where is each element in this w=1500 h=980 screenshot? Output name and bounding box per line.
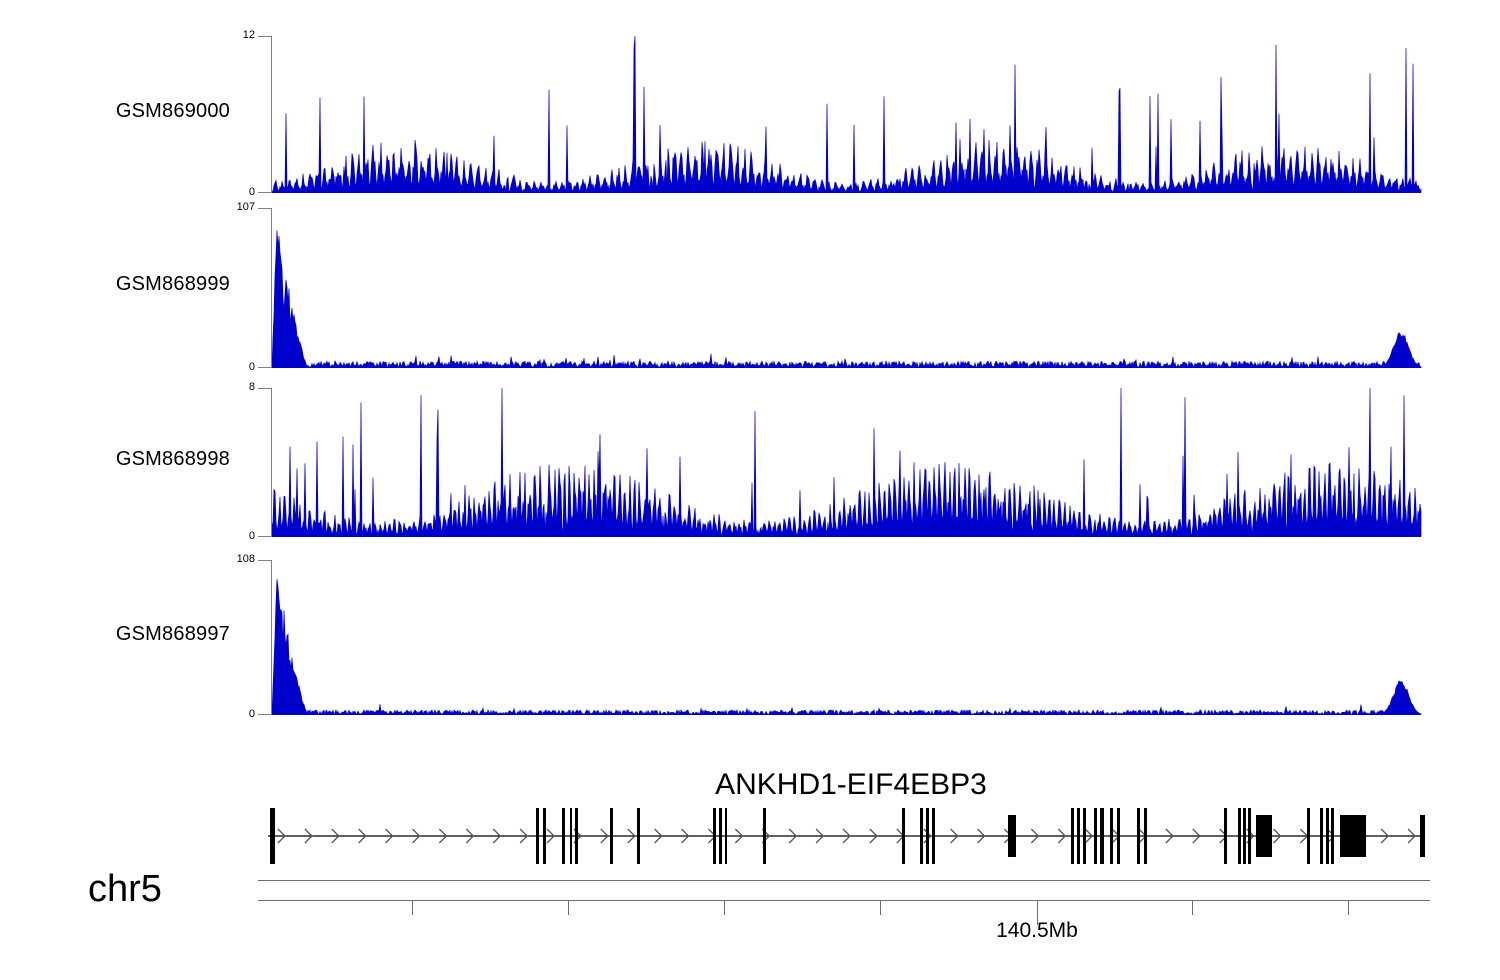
ruler-tick <box>880 901 881 915</box>
exon-block <box>1077 808 1080 864</box>
exon-block <box>270 808 275 864</box>
axis-max-value: 107 <box>195 202 255 213</box>
axis-tick-bottom <box>258 367 272 368</box>
ruler-tick <box>1348 901 1349 915</box>
coverage-track: GSM869000120 <box>0 24 1500 205</box>
track-label-gsm868999: GSM868999 <box>60 274 230 294</box>
track-label-gsm868997: GSM868997 <box>60 624 230 644</box>
exon-block <box>926 808 929 864</box>
axis-tick-top <box>258 560 272 561</box>
exon-block <box>1224 808 1227 864</box>
exon-block <box>1340 815 1366 857</box>
exon-block <box>1307 808 1310 864</box>
exon-block <box>1117 808 1120 864</box>
gene-model-track[interactable] <box>268 808 1425 864</box>
exon-block <box>1071 808 1074 864</box>
coverage-plot[interactable] <box>272 388 1422 537</box>
exon-block <box>1420 815 1425 857</box>
ruler-tick <box>568 901 569 915</box>
axis-min-value: 0 <box>195 362 255 373</box>
exon-block <box>902 808 905 864</box>
exon-block <box>570 808 572 864</box>
coverage-plot[interactable] <box>272 208 1422 368</box>
exon-block <box>932 808 935 864</box>
exon-block <box>1331 808 1334 864</box>
axis-tick-bottom <box>258 192 272 193</box>
exon-block <box>1248 808 1251 864</box>
exon-block <box>725 808 727 864</box>
coverage-track: GSM8689991070 <box>0 196 1500 380</box>
exon-block <box>562 808 565 864</box>
gene-name-label: ANKHD1-EIF4EBP3 <box>551 770 1151 800</box>
axis-max-value: 108 <box>195 554 255 565</box>
track-y-axis <box>258 36 272 193</box>
axis-tick-top <box>258 208 272 209</box>
exon-block <box>610 808 613 864</box>
coverage-track: GSM8689971080 <box>0 548 1500 727</box>
exon-block <box>536 808 539 864</box>
axis-tick-bottom <box>258 714 272 715</box>
chromosome-label: chr5 <box>88 870 162 908</box>
axis-tick-top <box>258 36 272 37</box>
axis-max-value: 12 <box>195 30 255 41</box>
track-label-gsm869000: GSM869000 <box>60 101 230 121</box>
exon-block <box>575 808 578 864</box>
exon-block <box>1100 808 1104 864</box>
exon-block <box>1110 808 1113 864</box>
axis-min-value: 0 <box>195 709 255 720</box>
axis-max-value: 8 <box>195 382 255 393</box>
ruler-line-lower <box>258 900 1430 901</box>
gene-model-svg <box>268 808 1425 864</box>
exon-block <box>1083 808 1086 864</box>
exon-block <box>1256 815 1272 857</box>
exon-block <box>713 808 716 864</box>
exon-block <box>637 808 640 864</box>
axis-min-value: 0 <box>195 531 255 542</box>
coordinate-tick-label: 140.5Mb <box>887 920 1187 941</box>
exon-block <box>1137 808 1140 864</box>
coverage-plot[interactable] <box>272 36 1422 193</box>
exon-block <box>1094 808 1097 864</box>
exon-block <box>763 808 766 864</box>
track-y-axis <box>258 388 272 537</box>
exon-block <box>1144 808 1147 864</box>
track-label-gsm868998: GSM868998 <box>60 449 230 469</box>
exon-block <box>1326 808 1329 864</box>
ruler-tick <box>412 901 413 915</box>
ruler-line-upper <box>258 880 1430 881</box>
exon-block <box>1320 808 1323 864</box>
axis-tick-top <box>258 388 272 389</box>
track-y-axis <box>258 208 272 368</box>
exon-block <box>920 808 923 864</box>
coverage-plot[interactable] <box>272 560 1422 715</box>
ruler-tick <box>724 901 725 915</box>
exon-block <box>1243 808 1246 864</box>
track-y-axis <box>258 560 272 715</box>
exon-block <box>1238 808 1241 864</box>
exon-block <box>719 808 722 864</box>
ruler-tick <box>1192 901 1193 915</box>
axis-tick-bottom <box>258 536 272 537</box>
coverage-track: GSM86899880 <box>0 376 1500 549</box>
exon-block <box>543 808 546 864</box>
genome-browser-view: GSM869000120GSM8689991070GSM86899880GSM8… <box>0 0 1500 980</box>
exon-block <box>1008 815 1016 857</box>
